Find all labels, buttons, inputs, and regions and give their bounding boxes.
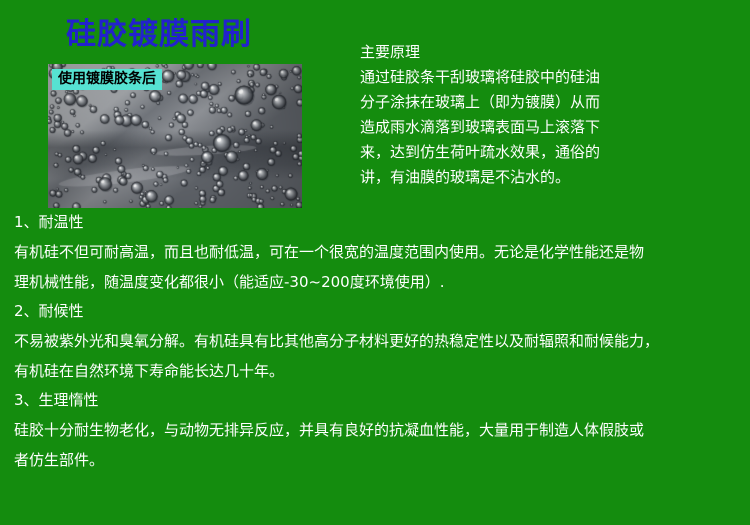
principle-heading: 主要原理 <box>360 40 740 65</box>
section-heading: 3、生理惰性 <box>0 386 750 415</box>
section-heading: 1、耐温性 <box>0 208 750 237</box>
principle-line: 造成雨水滴落到玻璃表面马上滚落下 <box>360 115 740 140</box>
feature-sections: 1、耐温性 有机硅不但可耐高温，而且也耐低温，可在一个很宽的温度范围内使用。无论… <box>0 208 750 475</box>
feature-section-3: 3、生理惰性 硅胶十分耐生物老化，与动物无排异反应，并具有良好的抗凝血性能，大量… <box>0 386 750 475</box>
photo-caption-badge: 使用镀膜胶条后 <box>52 69 162 90</box>
principle-block: 主要原理 通过硅胶条干刮玻璃将硅胶中的硅油 分子涂抹在玻璃上（即为镀膜）从而 造… <box>360 40 740 190</box>
section-body: 硅胶十分耐生物老化，与动物无排异反应，并具有良好的抗凝血性能，大量用于制造人体假… <box>0 415 750 475</box>
page-title: 硅胶镀膜雨刷 <box>66 18 252 51</box>
section-body: 有机硅不但可耐高温，而且也耐低温，可在一个很宽的温度范围内使用。无论是化学性能还… <box>0 237 750 297</box>
product-detail-page: 硅胶镀膜雨刷 使用镀膜胶条后 主要原理 通过硅胶条干刮玻璃将硅胶中的硅油 分子涂… <box>0 0 750 525</box>
section-heading: 2、耐候性 <box>0 297 750 326</box>
feature-section-2: 2、耐候性 不易被紫外光和臭氧分解。有机硅具有比其他高分子材料更好的热稳定性以及… <box>0 297 750 386</box>
section-body-line: 有机硅不但可耐高温，而且也耐低温，可在一个很宽的温度范围内使用。无论是化学性能还… <box>14 237 746 267</box>
principle-line: 通过硅胶条干刮玻璃将硅胶中的硅油 <box>360 65 740 90</box>
principle-line: 分子涂抹在玻璃上（即为镀膜）从而 <box>360 90 740 115</box>
principle-line: 来，达到仿生荷叶疏水效果，通俗的 <box>360 140 740 165</box>
section-body-line: 理机械性能，随温度变化都很小（能适应-30~200度环境使用）. <box>14 267 746 297</box>
section-body: 不易被紫外光和臭氧分解。有机硅具有比其他高分子材料更好的热稳定性以及耐辐照和耐候… <box>0 326 750 386</box>
section-body-line: 有机硅在自然环境下寿命能长达几十年。 <box>14 356 746 386</box>
water-droplets-on-glass-photo: 使用镀膜胶条后 <box>48 64 302 208</box>
principle-line: 讲，有油膜的玻璃是不沾水的。 <box>360 165 740 190</box>
feature-section-1: 1、耐温性 有机硅不但可耐高温，而且也耐低温，可在一个很宽的温度范围内使用。无论… <box>0 208 750 297</box>
section-body-line: 者仿生部件。 <box>14 445 746 475</box>
section-body-line: 硅胶十分耐生物老化，与动物无排异反应，并具有良好的抗凝血性能，大量用于制造人体假… <box>14 415 746 445</box>
section-body-line: 不易被紫外光和臭氧分解。有机硅具有比其他高分子材料更好的热稳定性以及耐辐照和耐候… <box>14 326 746 356</box>
